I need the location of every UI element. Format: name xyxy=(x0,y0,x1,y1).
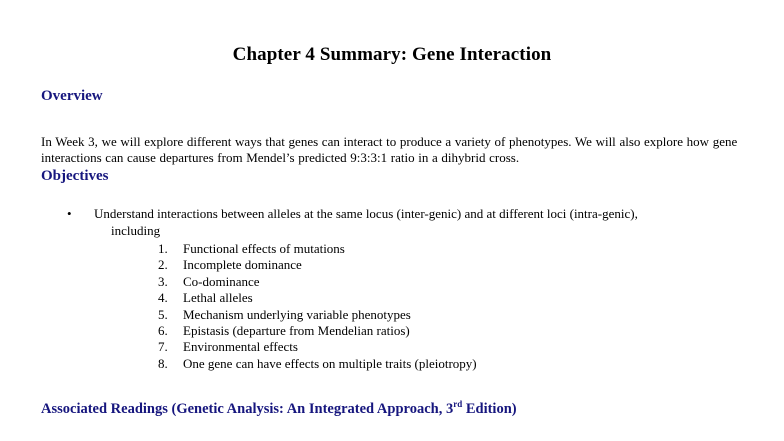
list-item-number: 1. xyxy=(158,241,178,257)
list-item: 3. Co-dominance xyxy=(158,274,718,290)
bullet-item-label: Understand interactions between alleles … xyxy=(94,206,638,221)
list-item-label: Incomplete dominance xyxy=(183,257,302,272)
list-item: 8. One gene can have effects on multiple… xyxy=(158,356,718,372)
section-heading-objectives: Objectives xyxy=(41,168,108,185)
list-item: 2. Incomplete dominance xyxy=(158,257,718,273)
list-item-number: 6. xyxy=(158,323,178,339)
page-title: Chapter 4 Summary: Gene Interaction xyxy=(0,45,784,66)
list-item-number: 5. xyxy=(158,307,178,323)
section-heading-associated-readings: Associated Readings (Genetic Analysis: A… xyxy=(41,401,517,418)
list-item: 5. Mechanism underlying variable phenoty… xyxy=(158,307,718,323)
bullet-item-continuation: including xyxy=(94,222,744,239)
list-item-label: Environmental effects xyxy=(183,339,298,354)
list-item-number: 7. xyxy=(158,339,178,355)
list-item-number: 4. xyxy=(158,290,178,306)
list-item-label: Lethal alleles xyxy=(183,290,253,305)
list-item-number: 3. xyxy=(158,274,178,290)
list-item: 6. Epistasis (departure from Mendelian r… xyxy=(158,323,718,339)
list-item-number: 2. xyxy=(158,257,178,273)
section-heading-overview: Overview xyxy=(41,88,103,105)
readings-ordinal-suffix: rd xyxy=(453,399,462,409)
readings-prefix: Associated Readings (Genetic Analysis: A… xyxy=(41,401,453,417)
overview-paragraph: In Week 3, we will explore different way… xyxy=(41,134,743,166)
list-item-label: Co-dominance xyxy=(183,274,260,289)
list-item-number: 8. xyxy=(158,356,178,372)
list-item-label: One gene can have effects on multiple tr… xyxy=(183,356,477,371)
objectives-numbered-list: 1. Functional effects of mutations 2. In… xyxy=(158,241,718,372)
document-page: Chapter 4 Summary: Gene Interaction Over… xyxy=(0,0,784,441)
objectives-bullet-block: • Understand interactions between allele… xyxy=(64,205,744,239)
list-item: 7. Environmental effects xyxy=(158,339,718,355)
bullet-point-icon: • xyxy=(67,205,72,222)
list-item-label: Functional effects of mutations xyxy=(183,241,345,256)
list-item-label: Epistasis (departure from Mendelian rati… xyxy=(183,323,410,338)
list-item: • Understand interactions between allele… xyxy=(64,205,744,239)
list-item: 1. Functional effects of mutations xyxy=(158,241,718,257)
list-item: 4. Lethal alleles xyxy=(158,290,718,306)
list-item-label: Mechanism underlying variable phenotypes xyxy=(183,307,411,322)
readings-suffix: Edition) xyxy=(462,401,516,417)
